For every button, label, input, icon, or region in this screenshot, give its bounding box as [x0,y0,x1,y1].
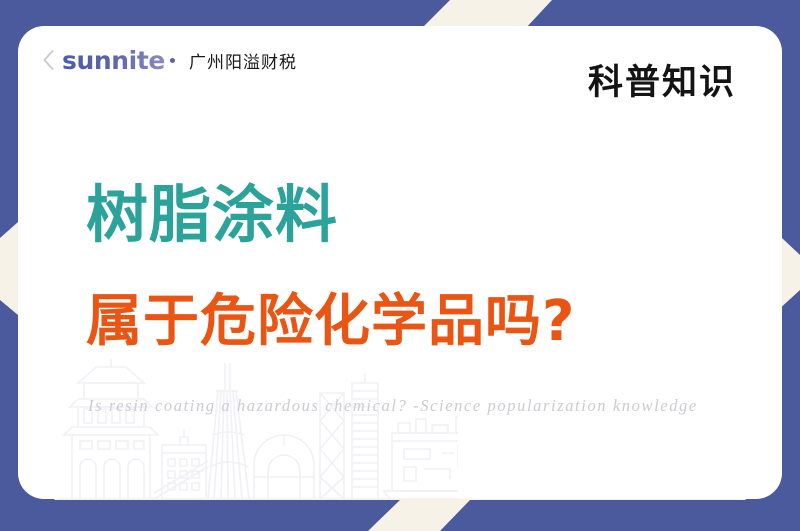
brand-name-cn: 广州阳溢财税 [189,48,297,73]
content-card: sunnite 广州阳溢财税 科普知识 树脂涂料 属于危险化学品吗? Is re… [18,26,782,499]
title-line-1: 树脂涂料 [86,184,338,246]
category-badge: 科普知识 [588,66,736,101]
header-bar: sunnite 广州阳溢财税 [38,43,297,77]
chevron-left-icon[interactable] [38,47,58,73]
title-english-subtitle: Is resin coating a hazardous chemical? -… [88,396,698,416]
title-line-2: 属于危险化学品吗? [86,294,575,350]
sunnite-logo[interactable]: sunnite [62,48,168,73]
guangzhou-skyline-watermark [58,349,458,499]
registered-mark-dot [170,58,175,63]
poster-canvas: sunnite 广州阳溢财税 科普知识 树脂涂料 属于危险化学品吗? Is re… [0,0,800,531]
